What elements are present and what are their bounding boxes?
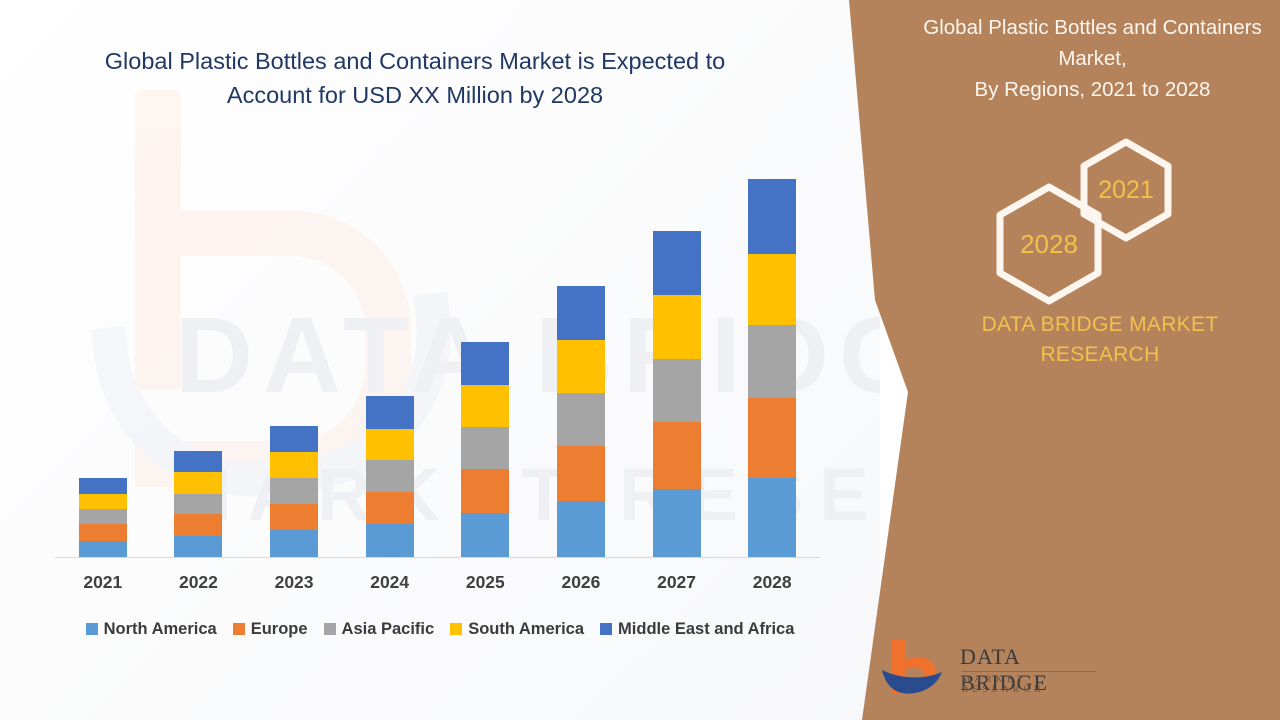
legend-swatch-icon [233,623,245,635]
x-axis-label-2026: 2026 [533,572,628,600]
stacked-bar [653,231,701,558]
bar-segment [461,385,509,428]
brand-title-line-2: By Regions, 2021 to 2028 [920,74,1265,105]
bar-segment [270,530,318,558]
x-axis-labels: 20212022202320242025202620272028 [55,572,820,600]
bar-segment [270,504,318,531]
bar-segment [653,422,701,488]
x-axis-label-2025: 2025 [438,572,533,600]
bar-segment [366,460,414,492]
bar-segment [461,469,509,513]
bar-column-2023 [247,150,342,558]
company-name: DATA BRIDGE MARKET RESEARCH [950,310,1250,370]
legend-label: Asia Pacific [342,620,435,639]
legend-label: South America [468,620,584,639]
bar-segment [557,286,605,340]
hexagon-2028-label: 2028 [1020,229,1078,260]
bar-segment [174,451,222,472]
slide-canvas: DATA BRIDGE MARKET RESEARCH Global Plast… [0,0,1280,720]
bar-segment [174,536,222,558]
legend-swatch-icon [600,623,612,635]
stacked-bar-chart [55,150,820,558]
x-axis-label-2021: 2021 [55,572,150,600]
legend-item-north-america[interactable]: North America [86,620,217,639]
bar-segment [79,509,127,524]
bar-column-2022 [151,150,246,558]
legend-item-europe[interactable]: Europe [233,620,308,639]
bar-segment [653,359,701,422]
brand-title-line-1: Global Plastic Bottles and Containers Ma… [920,12,1265,74]
bar-segment [461,427,509,469]
bar-segment [270,452,318,479]
x-axis-line [55,557,820,558]
legend-label: Europe [251,620,308,639]
hexagon-group: 2028 2021 [975,138,1205,288]
bar-segment [79,478,127,493]
bar-segment [748,478,796,558]
brand-title: Global Plastic Bottles and Containers Ma… [920,12,1265,105]
bar-segment [366,429,414,461]
bar-segment [366,396,414,429]
bar-column-2024 [342,150,437,558]
x-axis-label-2024: 2024 [342,572,437,600]
bar-column-2021 [55,150,150,558]
logo-divider [962,671,1096,672]
bar-segment [270,426,318,452]
data-bridge-logo: DATA BRIDGE MARKET RESEARCH [878,638,1108,700]
bar-segment [79,541,127,558]
legend-swatch-icon [324,623,336,635]
bar-segment [748,179,796,254]
bar-segment [270,478,318,504]
bar-segment [557,501,605,558]
legend-label: North America [104,620,217,639]
bar-segment [174,494,222,514]
x-axis-label-2027: 2027 [629,572,724,600]
legend-item-south-america[interactable]: South America [450,620,584,639]
hexagon-2021-label: 2021 [1098,176,1154,205]
bar-column-2027 [629,150,724,558]
bar-segment [653,231,701,295]
legend-swatch-icon [86,623,98,635]
bar-segment [653,295,701,359]
bar-segment [557,340,605,393]
chart-pane: DATA BRIDGE MARKET RESEARCH Global Plast… [0,0,880,720]
bar-segment [557,446,605,501]
stacked-bar [557,286,605,558]
bar-segment [174,472,222,493]
bar-segment [557,393,605,446]
x-axis-label-2028: 2028 [725,572,820,600]
bar-segment [653,489,701,558]
bar-segment [748,254,796,325]
legend-swatch-icon [450,623,462,635]
x-axis-label-2023: 2023 [247,572,342,600]
x-axis-label-2022: 2022 [151,572,246,600]
logo-subwordmark: MARKET RESEARCH [962,674,1108,694]
bar-segment [366,492,414,525]
legend-item-middle-east-and-africa[interactable]: Middle East and Africa [600,620,794,639]
stacked-bar [748,179,796,558]
hexagon-2021: 2021 [1080,138,1172,242]
bar-segment [748,325,796,397]
bar-segment [748,398,796,479]
legend-label: Middle East and Africa [618,620,794,639]
bar-segment [366,524,414,558]
stacked-bar [79,478,127,558]
bar-column-2026 [533,150,628,558]
bar-segment [174,514,222,535]
bar-column-2028 [725,150,820,558]
stacked-bar [174,451,222,558]
legend-item-asia-pacific[interactable]: Asia Pacific [324,620,435,639]
chart-legend: North AmericaEuropeAsia PacificSouth Ame… [55,616,825,642]
bar-segment [461,513,509,558]
bar-segment [79,494,127,509]
page-title: Global Plastic Bottles and Containers Ma… [60,44,770,112]
bar-column-2025 [438,150,533,558]
stacked-bar [270,426,318,558]
bar-segment [461,342,509,385]
logo-mark-icon [878,638,952,696]
bar-segment [79,524,127,540]
stacked-bar [366,396,414,558]
stacked-bar [461,342,509,558]
